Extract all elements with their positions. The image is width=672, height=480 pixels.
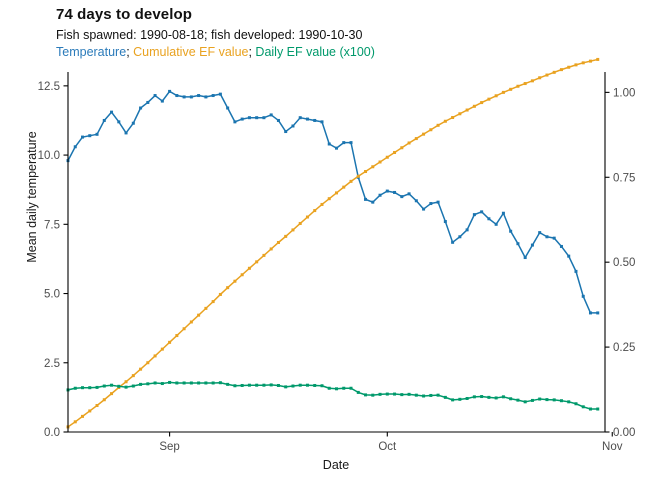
data-point (545, 74, 548, 77)
data-point (589, 60, 592, 63)
data-point (262, 254, 265, 257)
data-point (183, 381, 186, 384)
data-point (458, 235, 461, 238)
data-point (270, 383, 273, 386)
series-points-daily-ef-value-x100 (67, 381, 600, 411)
data-point (364, 198, 367, 201)
data-point (335, 191, 338, 194)
data-point (466, 109, 469, 112)
data-point (74, 420, 77, 423)
axis-layer: SepOctNov0.02.55.07.510.012.50.000.250.5… (38, 72, 636, 453)
series-layer (67, 58, 600, 428)
data-point (270, 113, 273, 116)
data-point (168, 90, 171, 93)
data-point (560, 399, 563, 402)
data-point (175, 94, 178, 97)
data-point (466, 397, 469, 400)
data-point (422, 208, 425, 211)
y-right-tick-label: 0.50 (613, 257, 635, 269)
data-point (306, 118, 309, 121)
data-point (415, 137, 418, 140)
data-point (516, 242, 519, 245)
y-left-tick-label: 2.5 (44, 358, 60, 370)
data-point (335, 147, 338, 150)
data-point (233, 384, 236, 387)
data-point (175, 334, 178, 337)
data-point (509, 88, 512, 91)
chart-plot-area: SepOctNov0.02.55.07.510.012.50.000.250.5… (0, 0, 672, 480)
data-point (204, 307, 207, 310)
data-point (429, 394, 432, 397)
data-point (306, 384, 309, 387)
data-point (582, 405, 585, 408)
data-point (219, 93, 222, 96)
data-point (103, 385, 106, 388)
data-point (487, 396, 490, 399)
data-point (524, 82, 527, 85)
data-point (466, 228, 469, 231)
data-point (81, 136, 84, 139)
data-point (531, 244, 534, 247)
data-point (458, 112, 461, 115)
data-point (299, 116, 302, 119)
series-line-temperature (68, 91, 598, 313)
data-point (567, 66, 570, 69)
chart-page: 74 days to develop Fish spawned: 1990-08… (0, 0, 672, 480)
data-point (154, 94, 157, 97)
data-point (437, 124, 440, 127)
data-point (291, 385, 294, 388)
data-point (335, 387, 338, 390)
data-point (313, 209, 316, 212)
y-right-tick-label: 0.00 (613, 427, 635, 439)
data-point (226, 286, 229, 289)
data-point (393, 151, 396, 154)
data-point (516, 399, 519, 402)
data-point (183, 327, 186, 330)
series-points-temperature (67, 90, 600, 315)
data-point (437, 394, 440, 397)
data-point (233, 280, 236, 283)
data-point (212, 94, 215, 97)
data-point (197, 314, 200, 317)
data-point (364, 393, 367, 396)
data-point (190, 95, 193, 98)
data-point (96, 133, 99, 136)
data-point (212, 381, 215, 384)
data-point (139, 368, 142, 371)
x-tick-label: Sep (159, 441, 179, 453)
data-point (270, 247, 273, 250)
y-right-tick-label: 0.25 (613, 342, 635, 354)
data-point (502, 91, 505, 94)
data-point (574, 63, 577, 66)
data-point (444, 120, 447, 123)
data-point (386, 393, 389, 396)
y-left-tick-label: 5.0 (44, 289, 60, 301)
data-point (545, 235, 548, 238)
y-right-tick-label: 1.00 (613, 87, 635, 99)
data-point (451, 241, 454, 244)
data-point (574, 270, 577, 273)
data-point (350, 180, 353, 183)
data-point (560, 68, 563, 71)
data-point (560, 245, 563, 248)
data-point (379, 393, 382, 396)
data-point (444, 220, 447, 223)
data-point (357, 391, 360, 394)
data-point (81, 415, 84, 418)
data-point (132, 122, 135, 125)
data-point (524, 256, 527, 259)
data-point (451, 116, 454, 119)
data-point (241, 273, 244, 276)
data-point (350, 387, 353, 390)
data-point (219, 381, 222, 384)
data-point (110, 111, 113, 114)
data-point (284, 130, 287, 133)
y-left-tick-label: 7.5 (44, 219, 60, 231)
data-point (480, 101, 483, 104)
data-point (553, 398, 556, 401)
data-point (248, 384, 251, 387)
series-line-daily-ef-value-x100 (68, 382, 598, 409)
data-point (313, 119, 316, 122)
data-point (516, 85, 519, 88)
data-point (582, 295, 585, 298)
data-point (538, 231, 541, 234)
data-point (132, 385, 135, 388)
data-point (553, 237, 556, 240)
data-point (277, 241, 280, 244)
data-point (328, 197, 331, 200)
y-left-tick-label: 0.0 (44, 427, 60, 439)
x-tick-label: Oct (378, 441, 397, 453)
data-point (88, 409, 91, 412)
data-point (444, 396, 447, 399)
data-point (582, 61, 585, 64)
data-point (487, 217, 490, 220)
data-point (255, 116, 258, 119)
data-point (88, 386, 91, 389)
data-point (538, 398, 541, 401)
data-point (197, 381, 200, 384)
data-point (313, 384, 316, 387)
data-point (538, 76, 541, 79)
data-point (190, 381, 193, 384)
data-point (103, 119, 106, 122)
data-point (168, 341, 171, 344)
data-point (473, 105, 476, 108)
data-point (596, 311, 599, 314)
data-point (473, 395, 476, 398)
data-point (596, 58, 599, 61)
data-point (509, 397, 512, 400)
data-point (408, 192, 411, 195)
data-point (125, 386, 128, 389)
data-point (277, 119, 280, 122)
data-point (255, 384, 258, 387)
data-point (415, 199, 418, 202)
data-point (524, 400, 527, 403)
data-point (241, 118, 244, 121)
data-point (545, 398, 548, 401)
data-point (429, 202, 432, 205)
data-point (154, 381, 157, 384)
data-point (262, 384, 265, 387)
data-point (125, 131, 128, 134)
data-point (168, 381, 171, 384)
data-point (589, 408, 592, 411)
data-point (451, 398, 454, 401)
data-point (415, 394, 418, 397)
data-point (284, 385, 287, 388)
data-point (473, 213, 476, 216)
data-point (219, 293, 222, 296)
data-point (408, 393, 411, 396)
data-point (386, 190, 389, 193)
data-point (567, 400, 570, 403)
data-point (480, 210, 483, 213)
data-point (495, 94, 498, 97)
data-point (110, 392, 113, 395)
data-point (458, 398, 461, 401)
data-point (103, 398, 106, 401)
data-point (212, 300, 215, 303)
panel-border (68, 72, 605, 432)
data-point (248, 116, 251, 119)
data-point (154, 354, 157, 357)
data-point (320, 384, 323, 387)
data-point (393, 393, 396, 396)
data-point (110, 384, 113, 387)
data-point (379, 194, 382, 197)
data-point (96, 386, 99, 389)
data-point (204, 95, 207, 98)
data-point (400, 146, 403, 149)
data-point (248, 267, 251, 270)
data-point (502, 212, 505, 215)
data-point (596, 408, 599, 411)
data-point (291, 125, 294, 128)
data-point (328, 143, 331, 146)
y-left-tick-label: 12.5 (38, 81, 60, 93)
data-point (567, 255, 570, 258)
data-point (371, 201, 374, 204)
x-tick-label: Nov (602, 441, 623, 453)
data-point (531, 79, 534, 82)
data-point (393, 191, 396, 194)
data-point (487, 98, 490, 101)
data-point (437, 201, 440, 204)
y-right-tick-label: 0.75 (613, 172, 635, 184)
data-point (299, 384, 302, 387)
data-point (226, 107, 229, 110)
data-point (495, 223, 498, 226)
data-point (291, 228, 294, 231)
data-point (342, 387, 345, 390)
data-point (328, 387, 331, 390)
data-point (320, 120, 323, 123)
data-point (284, 235, 287, 238)
data-point (183, 95, 186, 98)
data-point (509, 230, 512, 233)
data-point (88, 134, 91, 137)
data-point (74, 145, 77, 148)
data-point (480, 395, 483, 398)
data-point (146, 361, 149, 364)
data-point (139, 107, 142, 110)
data-point (553, 71, 556, 74)
data-point (320, 203, 323, 206)
data-point (306, 216, 309, 219)
data-point (357, 175, 360, 178)
data-point (371, 394, 374, 397)
data-point (422, 395, 425, 398)
data-point (161, 100, 164, 103)
data-point (233, 120, 236, 123)
data-point (379, 161, 382, 164)
data-point (400, 393, 403, 396)
data-point (74, 387, 77, 390)
data-point (531, 399, 534, 402)
data-point (408, 141, 411, 144)
data-point (117, 120, 120, 123)
data-point (190, 320, 193, 323)
data-point (139, 383, 142, 386)
data-point (400, 195, 403, 198)
data-point (175, 381, 178, 384)
data-point (255, 260, 258, 263)
data-point (502, 395, 505, 398)
data-point (146, 382, 149, 385)
data-point (350, 141, 353, 144)
y-left-tick-label: 10.0 (38, 150, 60, 162)
data-point (299, 222, 302, 225)
data-point (132, 374, 135, 377)
data-point (574, 402, 577, 405)
data-point (262, 116, 265, 119)
data-point (589, 311, 592, 314)
data-point (371, 165, 374, 168)
data-point (386, 156, 389, 159)
data-point (204, 381, 207, 384)
data-point (81, 386, 84, 389)
data-point (117, 385, 120, 388)
data-point (364, 170, 367, 173)
data-point (197, 94, 200, 97)
data-point (96, 404, 99, 407)
data-point (241, 384, 244, 387)
data-point (125, 380, 128, 383)
data-point (277, 384, 280, 387)
data-point (429, 128, 432, 131)
data-point (161, 382, 164, 385)
data-point (146, 101, 149, 104)
data-point (422, 133, 425, 136)
data-point (342, 141, 345, 144)
data-point (161, 348, 164, 351)
data-point (342, 186, 345, 189)
data-point (495, 396, 498, 399)
data-point (226, 383, 229, 386)
